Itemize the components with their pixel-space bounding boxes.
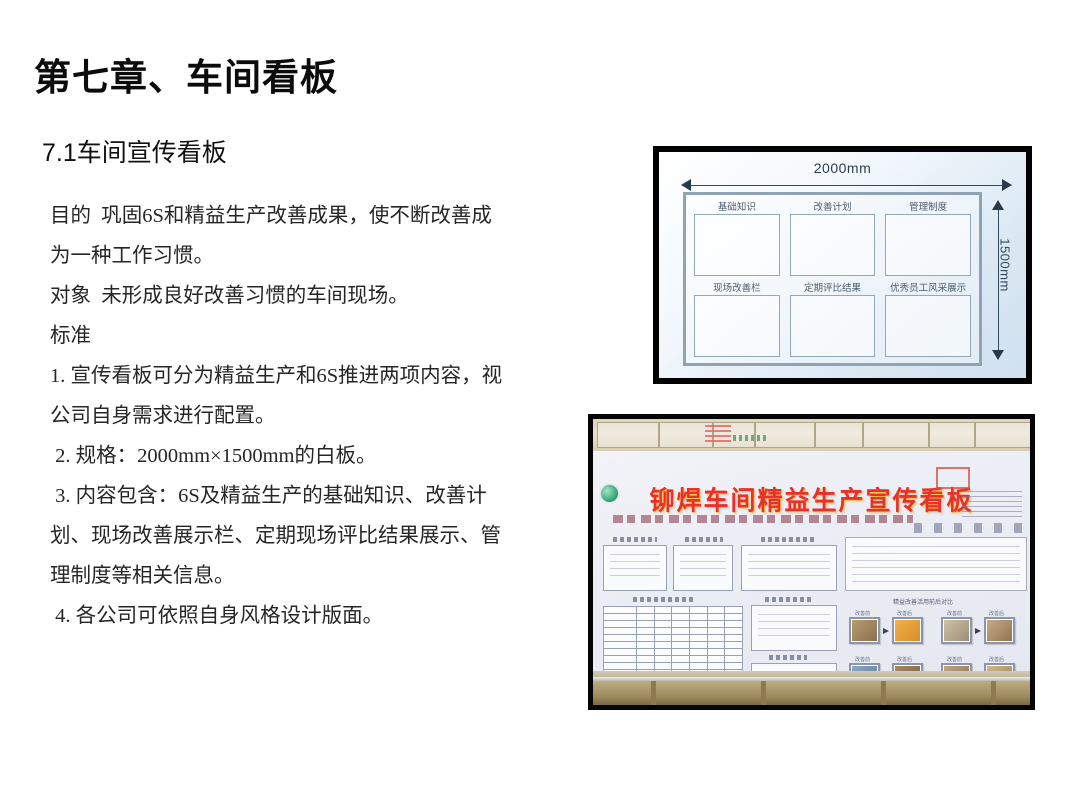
panel-label: 现场改善栏 <box>694 282 780 295</box>
body-line: 3. 内容包含：6S及精益生产的基础知识、改善计 <box>50 476 530 516</box>
width-dimension-line <box>689 185 1004 186</box>
before-photo <box>941 617 972 644</box>
section-subtitle: 7.1车间宣传看板 <box>42 133 227 169</box>
diagram-panel: 定期评比结果 <box>790 282 876 357</box>
after-caption: 改善后 <box>989 656 1004 663</box>
photo-floor-rail <box>593 671 1030 705</box>
diagram-height-label: 1500mm <box>998 238 1013 292</box>
before-after-section-title: 精益改善活用前后对比 <box>893 597 953 606</box>
body-line: 2. 规格：2000mm×1500mm的白板。 <box>50 436 530 476</box>
table-row <box>604 649 743 656</box>
diagram-width-label: 2000mm <box>659 160 1026 176</box>
panel-box <box>694 214 780 276</box>
before-caption: 改善前 <box>947 610 962 617</box>
diagram-panel: 基础知识 <box>694 201 780 276</box>
body-line: 公司自身需求进行配置。 <box>50 396 530 436</box>
diagram-panel: 优秀员工风采展示 <box>885 282 971 357</box>
before-after-pair <box>849 617 923 644</box>
arrow-down-icon <box>992 350 1004 360</box>
table-row <box>604 656 743 663</box>
efficiency-chart-panel <box>845 537 1027 591</box>
table-row <box>604 621 743 628</box>
table-row <box>604 607 743 614</box>
panel-label: 改善计划 <box>790 201 876 214</box>
table-row <box>604 663 743 670</box>
table-caption <box>633 597 693 602</box>
before-caption: 改善前 <box>947 656 962 663</box>
mini-panel-label <box>613 537 657 542</box>
body-line: 标准 <box>50 316 530 356</box>
panel-label: 定期评比结果 <box>790 282 876 295</box>
table-row <box>604 628 743 635</box>
diagram-canvas: 2000mm 1500mm 基础知识 改善计划 <box>659 152 1026 378</box>
mini-panel-label <box>761 537 815 542</box>
arrow-up-icon <box>992 200 1004 210</box>
table-row <box>604 635 743 642</box>
arrow-right-icon <box>975 628 981 634</box>
body-line: 划、现场改善展示栏、定期现场评比结果展示、管 <box>50 516 530 556</box>
kanban-corner-info <box>962 491 1022 517</box>
before-caption: 改善前 <box>855 610 870 617</box>
kanban-slogan-line <box>613 515 913 523</box>
mini-panel-label <box>769 655 807 660</box>
arrow-right-icon <box>1002 179 1012 191</box>
panel-box <box>885 214 971 276</box>
body-line: 4. 各公司可依照自身风格设计版面。 <box>50 596 530 636</box>
after-photo <box>892 617 923 644</box>
arrow-right-icon <box>883 628 889 634</box>
body-text-block: 目的 巩固6S和精益生产改善成果，使不断改善成 为一种工作习惯。 对象 未形成良… <box>50 196 530 636</box>
page-title: 第七章、车间看板 <box>34 47 338 101</box>
kanban-right-header <box>914 523 1024 533</box>
kanban-board-surface: 铆焊车间精益生产宣传看板 <box>593 451 1030 671</box>
panel-box <box>790 295 876 357</box>
mini-panel <box>741 545 837 591</box>
diagram-panel: 改善计划 <box>790 201 876 276</box>
after-caption: 改善后 <box>897 610 912 617</box>
panel-box <box>885 295 971 357</box>
panel-box <box>790 214 876 276</box>
after-caption: 改善后 <box>897 656 912 663</box>
table-row <box>604 614 743 621</box>
whiteboard-outline: 基础知识 改善计划 管理制度 现场改善栏 <box>683 192 982 366</box>
after-photo <box>984 617 1015 644</box>
mini-panel-label <box>685 537 723 542</box>
panel-grid: 基础知识 改善计划 管理制度 现场改善栏 <box>694 201 971 357</box>
body-line: 对象 未形成良好改善习惯的车间现场。 <box>50 276 530 316</box>
table-row <box>604 642 743 649</box>
panel-label: 基础知识 <box>694 201 780 214</box>
panel-label: 管理制度 <box>885 201 971 214</box>
photo-canvas: 铆焊车间精益生产宣传看板 <box>593 419 1030 705</box>
panel-label: 优秀员工风采展示 <box>885 282 971 295</box>
before-caption: 改善前 <box>855 656 870 663</box>
before-photo <box>849 617 880 644</box>
mini-panel <box>751 605 837 651</box>
mini-panel <box>603 545 667 591</box>
red-stamp-icon <box>936 467 970 489</box>
photo-top-forms-strip <box>593 419 1030 452</box>
handrail <box>593 677 1030 681</box>
mini-panel <box>673 545 733 591</box>
before-after-pair <box>941 617 1015 644</box>
board-layout-diagram: 2000mm 1500mm 基础知识 改善计划 <box>653 146 1032 384</box>
diagram-panel: 现场改善栏 <box>694 282 780 357</box>
body-line: 理制度等相关信息。 <box>50 556 530 596</box>
arrow-left-icon <box>681 179 691 191</box>
diagram-panel: 管理制度 <box>885 201 971 276</box>
workshop-kanban-photo: 铆焊车间精益生产宣传看板 <box>588 414 1035 710</box>
mini-panel-label <box>765 597 811 602</box>
body-line: 目的 巩固6S和精益生产改善成果，使不断改善成 <box>50 196 530 236</box>
body-line: 1. 宣传看板可分为精益生产和6S推进两项内容，视 <box>50 356 530 396</box>
after-caption: 改善后 <box>989 610 1004 617</box>
slide-page: 第七章、车间看板 7.1车间宣传看板 目的 巩固6S和精益生产改善成果，使不断改… <box>0 0 1080 810</box>
body-line: 为一种工作习惯。 <box>50 236 530 276</box>
panel-box <box>694 295 780 357</box>
